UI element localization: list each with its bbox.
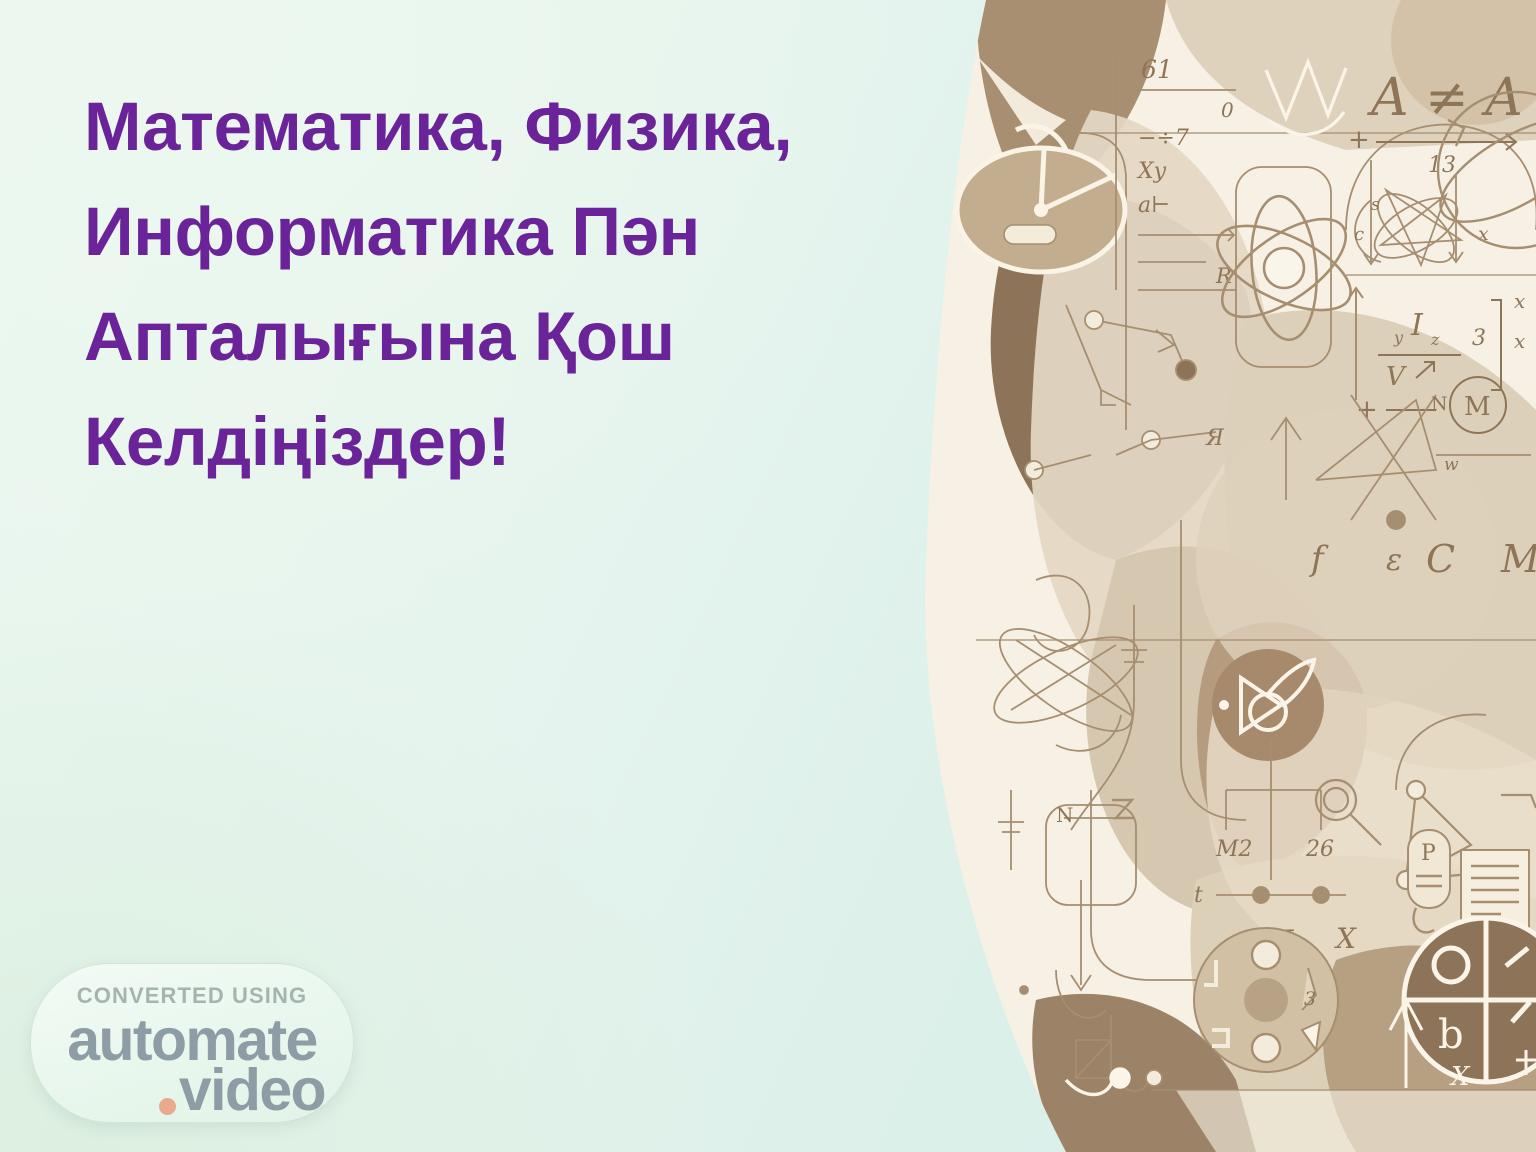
blob-bottom-cream-strip xyxy=(1176,1090,1536,1152)
svg-text:−÷7: −÷7 xyxy=(1138,126,1189,151)
svg-text:C: C xyxy=(1426,537,1455,581)
svg-text:s: s xyxy=(1371,195,1380,215)
svg-text:c: c xyxy=(1354,224,1364,245)
bottom-x-marks: X xyxy=(1449,1062,1471,1092)
svg-text:Xy: Xy xyxy=(1136,159,1167,184)
svg-text:w: w xyxy=(1444,455,1459,475)
svg-text:z: z xyxy=(1430,330,1440,349)
svg-text:X: X xyxy=(1334,922,1357,955)
svg-text:M: M xyxy=(1500,537,1536,581)
science-illustration-svg: 61 0 −÷7 Xy a⊢ R xyxy=(916,0,1536,1152)
svg-text:61: 61 xyxy=(1141,55,1173,84)
svg-text:t: t xyxy=(1194,883,1203,908)
svg-text:+: + xyxy=(1356,395,1378,425)
automate-video-watermark-badge[interactable]: CONVERTED USING automate video xyxy=(30,963,354,1123)
svg-text:P: P xyxy=(1421,841,1436,866)
svg-text:ε: ε xyxy=(1386,543,1402,578)
svg-text:M2: M2 xyxy=(1215,837,1253,862)
brand-tld-row: video xyxy=(159,1056,325,1123)
title-line-4: Келдіңіздер! xyxy=(84,389,904,494)
svg-text:y: y xyxy=(1393,328,1404,347)
svg-text:V: V xyxy=(1386,362,1407,392)
title-line-3: Апталығына Қош xyxy=(84,284,904,389)
svg-text:b: b xyxy=(1438,1012,1464,1058)
svg-text:N: N xyxy=(1431,393,1448,415)
svg-text:A ≠ A: A ≠ A xyxy=(1367,68,1523,128)
presentation-slide: 61 0 −÷7 Xy a⊢ R xyxy=(0,0,1536,1152)
svg-text:x: x xyxy=(1514,289,1525,313)
title-line-2: Информатика Пән xyxy=(84,179,904,284)
svg-text:Я: Я xyxy=(1205,426,1225,451)
svg-text:3: 3 xyxy=(1472,326,1486,351)
science-illustration: 61 0 −÷7 Xy a⊢ R xyxy=(916,0,1536,1152)
page-title: Математика, Физика, Информатика Пән Апта… xyxy=(84,74,904,494)
svg-text:X: X xyxy=(1449,1062,1471,1092)
brand-tld-video: video xyxy=(179,1056,325,1123)
camera-shutter-dial-icon: 3 xyxy=(1194,928,1338,1072)
title-line-1: Математика, Физика, xyxy=(84,74,904,179)
svg-text:M: M xyxy=(1464,392,1491,422)
svg-text:I: I xyxy=(1410,308,1424,343)
brand-dot-icon xyxy=(159,1098,176,1115)
rocket-badge-icon xyxy=(1212,649,1324,761)
svg-text:3: 3 xyxy=(1304,988,1316,1010)
svg-text:13: 13 xyxy=(1428,153,1456,178)
svg-text:a⊢: a⊢ xyxy=(1138,193,1170,218)
svg-text:x: x xyxy=(1514,329,1525,353)
svg-text:26: 26 xyxy=(1305,837,1334,862)
svg-text:N: N xyxy=(1056,803,1074,827)
svg-text:+: + xyxy=(1348,125,1370,155)
svg-text:0: 0 xyxy=(1221,98,1234,122)
illustration-clipped-content: 61 0 −÷7 Xy a⊢ R xyxy=(916,0,1536,1152)
